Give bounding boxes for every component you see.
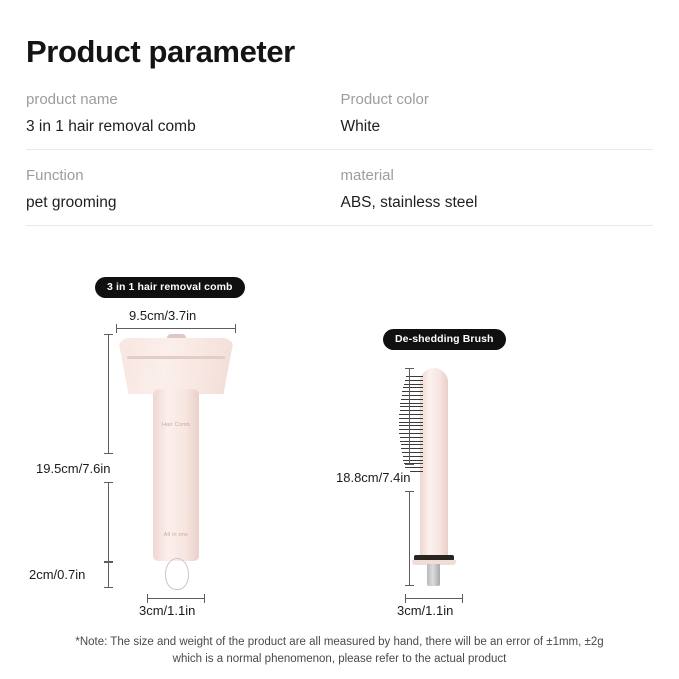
comb-base-label: 3cm/1.1in: [139, 603, 195, 618]
spec-label: Product color: [341, 90, 654, 110]
brush-tooth: [402, 452, 423, 453]
spec-value: ABS, stainless steel: [341, 193, 654, 213]
spec-cell-function: Function pet grooming: [26, 166, 340, 213]
brush-tooth: [402, 391, 423, 392]
brush-tooth: [400, 410, 423, 411]
brush-teeth: [397, 376, 423, 473]
brush-tooth: [400, 441, 423, 442]
spec-value: 3 in 1 hair removal comb: [26, 117, 340, 137]
brush-tooth: [405, 380, 423, 381]
brush-tooth: [400, 437, 423, 438]
comb-loop-rule: [108, 562, 109, 588]
spec-label: product name: [26, 90, 340, 110]
brush-tooth: [403, 456, 423, 457]
brush-tooth: [402, 395, 423, 396]
spec-cell-product-name: product name 3 in 1 hair removal comb: [26, 90, 340, 137]
footnote-line-1: *Note: The size and weight of the produc…: [0, 634, 679, 651]
comb-width-rule: [116, 328, 236, 329]
badge-de-shedding-brush: De-shedding Brush: [383, 329, 506, 350]
comb-handle-label-top: Hair Comb: [153, 422, 199, 428]
badge-hair-removal-comb: 3 in 1 hair removal comb: [95, 277, 245, 298]
footnote: *Note: The size and weight of the produc…: [0, 634, 679, 668]
brush-base-label: 3cm/1.1in: [397, 603, 453, 618]
spec-label: Function: [26, 166, 340, 186]
brush-tooth: [405, 467, 423, 468]
comb-height-rule-upper: [108, 334, 109, 454]
brush-tooth: [403, 387, 423, 388]
comb-height-rule-lower: [108, 482, 109, 562]
spec-value: White: [341, 117, 654, 137]
brush-blade: [427, 564, 440, 586]
comb-height-label: 19.5cm/7.6in: [36, 461, 110, 476]
spec-label: material: [341, 166, 654, 186]
brush-height-rule-upper: [409, 368, 410, 465]
brush-tooth: [400, 403, 423, 404]
spec-cell-product-color: Product color White: [340, 90, 654, 137]
brush-base-rule: [405, 598, 463, 599]
brush-body: [420, 368, 448, 558]
comb-width-label: 9.5cm/3.7in: [129, 308, 196, 323]
brush-tooth: [404, 384, 423, 385]
spec-value: pet grooming: [26, 193, 340, 213]
brush-tooth: [399, 422, 423, 423]
comb-loop-label: 2cm/0.7in: [29, 567, 85, 582]
brush-tooth: [400, 406, 423, 407]
footnote-line-2: which is a normal phenomenon, please ref…: [0, 651, 679, 668]
brush-tooth: [399, 414, 423, 415]
brush-tooth: [399, 433, 423, 434]
spec-row: Function pet grooming material ABS, stai…: [26, 166, 653, 226]
comb-head-slot: [127, 356, 225, 359]
brush-tooth: [399, 429, 423, 430]
brush-tooth: [401, 444, 423, 445]
brush-height-rule-lower: [409, 491, 410, 586]
brush-tooth: [401, 399, 423, 400]
spec-table: product name 3 in 1 hair removal comb Pr…: [26, 90, 653, 242]
spec-row: product name 3 in 1 hair removal comb Pr…: [26, 90, 653, 150]
spec-cell-material: material ABS, stainless steel: [340, 166, 654, 213]
brush-tooth: [401, 448, 423, 449]
brush-height-label: 18.8cm/7.4in: [336, 470, 410, 485]
product-illustrations: 3 in 1 hair removal comb Hair Comb All i…: [0, 258, 679, 628]
brush-tooth: [403, 460, 423, 461]
page-title: Product parameter: [26, 34, 295, 70]
comb-handle-label-bottom: All in one: [153, 532, 199, 538]
comb-base-rule: [147, 598, 205, 599]
brush-tooth: [399, 425, 423, 426]
comb-head: [118, 338, 234, 394]
comb-hanging-loop: [165, 558, 189, 590]
brush-tooth: [399, 418, 423, 419]
